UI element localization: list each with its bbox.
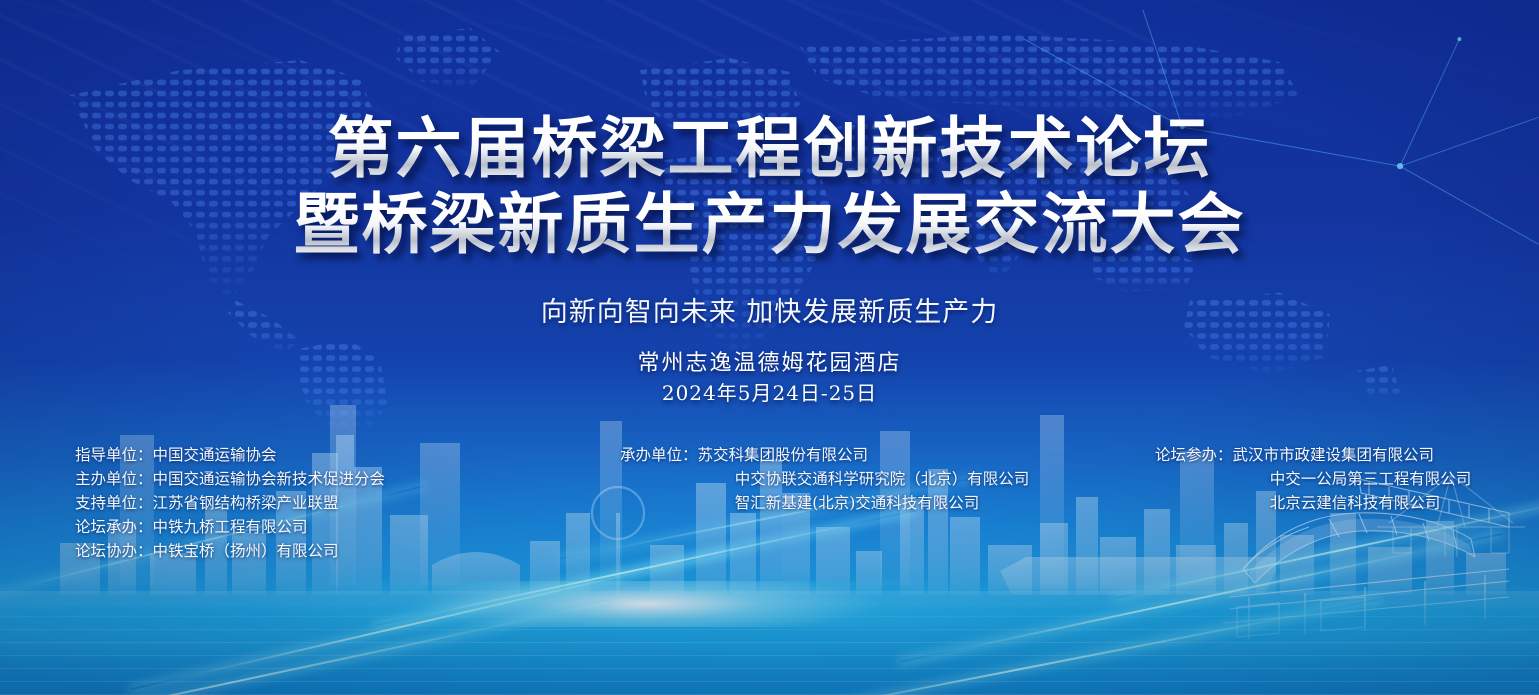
org-row: 论坛承办：中铁九桥工程有限公司 bbox=[75, 515, 385, 539]
org-column-left: 指导单位：中国交通运输协会 主办单位：中国交通运输协会新技术促进分会 支持单位：… bbox=[75, 443, 385, 563]
org-value: 中国交通运输协会新技术促进分会 bbox=[153, 470, 386, 488]
org-row: 支持单位：江苏省钢结构桥梁产业联盟 bbox=[75, 491, 385, 515]
org-row: 指导单位：中国交通运输协会 bbox=[75, 443, 385, 467]
organizations: 指导单位：中国交通运输协会 主办单位：中国交通运输协会新技术促进分会 支持单位：… bbox=[0, 443, 1539, 573]
org-value: 中国交通运输协会 bbox=[153, 446, 277, 464]
org-row: 中交一公局第三工程有限公司 bbox=[1155, 467, 1471, 491]
org-row: 主办单位：中国交通运输协会新技术促进分会 bbox=[75, 467, 385, 491]
venue-block: 常州志逸温德姆花园酒店 2024年5月24日-25日 bbox=[0, 350, 1539, 406]
org-label: 支持单位： bbox=[75, 491, 153, 515]
org-label: 承办单位： bbox=[620, 443, 698, 467]
org-value: 苏交科集团股份有限公司 bbox=[698, 446, 869, 464]
org-row: 论坛协办：中铁宝桥（扬州）有限公司 bbox=[75, 539, 385, 563]
main-title: 第六届桥梁工程创新技术论坛 暨桥梁新质生产力发展交流大会 bbox=[0, 110, 1539, 262]
org-value: 江苏省钢结构桥梁产业联盟 bbox=[153, 494, 339, 512]
org-row: 智汇新基建(北京)交通科技有限公司 bbox=[620, 491, 1029, 515]
org-column-middle: 承办单位：苏交科集团股份有限公司 中交协联交通科学研究院（北京）有限公司 智汇新… bbox=[620, 443, 1029, 515]
org-label: 指导单位： bbox=[75, 443, 153, 467]
slogan: 向新向智向未来 加快发展新质生产力 bbox=[0, 296, 1539, 330]
org-value: 武汉市市政建设集团有限公司 bbox=[1233, 446, 1435, 464]
org-value: 中铁宝桥（扬州）有限公司 bbox=[153, 542, 339, 560]
org-column-right: 论坛参办：武汉市市政建设集团有限公司 中交一公局第三工程有限公司 北京云建信科技… bbox=[1155, 443, 1471, 515]
org-row: 中交协联交通科学研究院（北京）有限公司 bbox=[620, 467, 1029, 491]
title-line-1: 第六届桥梁工程创新技术论坛 bbox=[0, 110, 1539, 186]
org-value: 中铁九桥工程有限公司 bbox=[153, 518, 308, 536]
title-line-2: 暨桥梁新质生产力发展交流大会 bbox=[0, 186, 1539, 262]
banner-content: 第六届桥梁工程创新技术论坛 暨桥梁新质生产力发展交流大会 向新向智向未来 加快发… bbox=[0, 0, 1539, 695]
event-dates: 2024年5月24日-25日 bbox=[0, 380, 1539, 406]
org-label: 论坛协办： bbox=[75, 539, 153, 563]
conference-banner: 第六届桥梁工程创新技术论坛 暨桥梁新质生产力发展交流大会 向新向智向未来 加快发… bbox=[0, 0, 1539, 695]
org-label: 论坛承办： bbox=[75, 515, 153, 539]
org-row: 承办单位：苏交科集团股份有限公司 bbox=[620, 443, 1029, 467]
org-row: 北京云建信科技有限公司 bbox=[1155, 491, 1471, 515]
org-label: 主办单位： bbox=[75, 467, 153, 491]
org-row: 论坛参办：武汉市市政建设集团有限公司 bbox=[1155, 443, 1471, 467]
venue-name: 常州志逸温德姆花园酒店 bbox=[0, 350, 1539, 378]
org-label: 论坛参办： bbox=[1155, 443, 1233, 467]
